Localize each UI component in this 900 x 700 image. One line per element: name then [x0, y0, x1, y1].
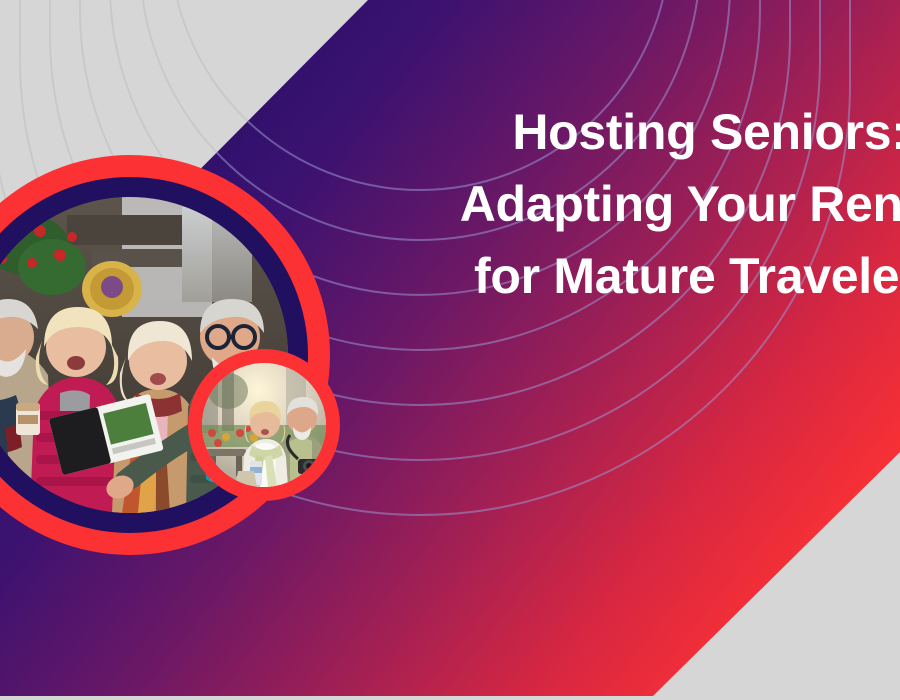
headline-line-2: Adapting Your Rental — [430, 168, 900, 240]
page-title: Hosting Seniors: Adapting Your Rental fo… — [430, 96, 900, 312]
promotional-banner: Hosting Seniors: Adapting Your Rental fo… — [0, 0, 900, 700]
bottom-edge-strip — [0, 696, 900, 700]
senior-couple-sightseeing-photo — [202, 363, 326, 487]
photo-cluster — [0, 155, 410, 575]
headline-line-3: for Mature Travelers — [430, 240, 900, 312]
headline-line-1: Hosting Seniors: — [430, 96, 900, 168]
